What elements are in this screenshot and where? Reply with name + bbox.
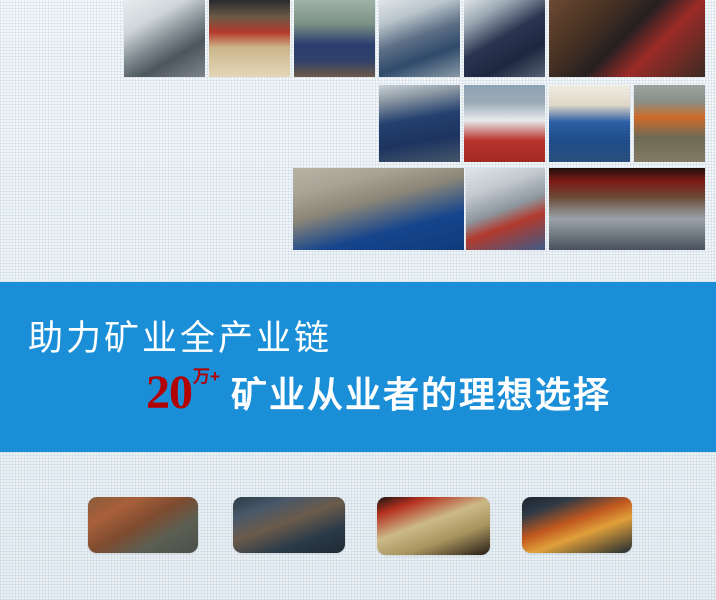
photo-company-sign-tianyu-mining-group <box>293 168 464 250</box>
photo-fill <box>88 497 198 553</box>
photo-mine-staff-in-front-of-plant <box>549 85 630 162</box>
photo-fill <box>293 168 464 250</box>
photo-fill <box>377 497 490 555</box>
photo-fill <box>549 0 705 77</box>
photo-workers-in-mountains <box>294 0 375 77</box>
photo-miners-with-hard-hats-by-van <box>634 85 705 162</box>
photo-fill <box>464 85 545 162</box>
photo-fill <box>464 0 545 77</box>
thumb-two-workers-red-helmets[interactable] <box>377 497 490 555</box>
blue-headline-banner: 助力矿业全产业链 20万+ 矿业从业者的理想选择 <box>0 282 716 452</box>
photo-executive-portrait-office <box>549 0 705 77</box>
photo-fill <box>549 85 630 162</box>
thumb-geologist-sampling-outcrop[interactable] <box>88 497 198 553</box>
photo-team-group-selfie <box>379 85 460 162</box>
photo-flotation-line-sampling <box>379 0 460 77</box>
photo-fill <box>124 0 205 77</box>
photo-fill <box>522 497 632 553</box>
promotional-banner-page: 助力矿业全产业链 20万+ 矿业从业者的理想选择 <box>0 0 716 600</box>
photo-banner-event-outdoors <box>464 85 545 162</box>
photo-fill <box>379 0 460 77</box>
thumb-foundry-worker-at-furnace[interactable] <box>522 497 632 553</box>
photo-lab-technician-at-machine <box>124 0 205 77</box>
member-count-number: 20万+ <box>146 370 219 416</box>
photo-fill <box>634 85 705 162</box>
photo-fill <box>466 168 545 250</box>
photo-lab-analyst-holding-flask <box>466 168 545 250</box>
photo-fill <box>379 85 460 162</box>
headline-line-2: 20万+ 矿业从业者的理想选择 <box>146 364 611 416</box>
photo-fill <box>294 0 375 77</box>
photo-collage <box>0 0 716 282</box>
photo-2017-industry-conference-group <box>549 168 705 250</box>
photo-fill <box>549 168 705 250</box>
headline-line-1: 助力矿业全产业链 <box>28 310 332 361</box>
member-count-unit-superscript: 万+ <box>193 367 220 386</box>
photo-fill <box>233 497 345 553</box>
thumb-smiling-miner-portrait[interactable] <box>233 497 345 553</box>
photo-fill <box>209 0 290 77</box>
headline-tail-text: 矿业从业者的理想选择 <box>231 366 611 418</box>
photo-award-ceremony-stage <box>209 0 290 77</box>
photo-two-engineers-lab-work <box>464 0 545 77</box>
